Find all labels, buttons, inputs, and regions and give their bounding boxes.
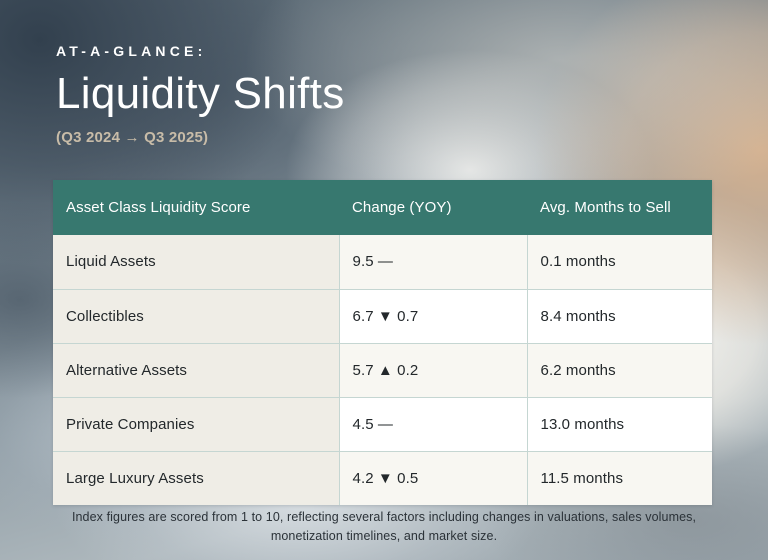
cell-asset-class: Liquid Assets xyxy=(53,235,339,289)
cell-change: 4.2 ▼ 0.5 xyxy=(339,451,527,505)
column-header-change: Change (YOY) xyxy=(339,180,527,235)
cell-asset-class: Collectibles xyxy=(53,289,339,343)
cell-asset-class: Private Companies xyxy=(53,397,339,451)
table-row: Liquid Assets 9.5 — 0.1 months xyxy=(53,235,712,289)
cell-change: 6.7 ▼ 0.7 xyxy=(339,289,527,343)
cell-months: 0.1 months xyxy=(527,235,712,289)
cell-months: 13.0 months xyxy=(527,397,712,451)
cell-months: 11.5 months xyxy=(527,451,712,505)
cell-change: 5.7 ▲ 0.2 xyxy=(339,343,527,397)
table-body: Liquid Assets 9.5 — 0.1 months Collectib… xyxy=(53,235,712,505)
header-block: AT-A-GLANCE: Liquidity Shifts (Q3 2024 →… xyxy=(56,44,676,145)
cell-months: 8.4 months xyxy=(527,289,712,343)
cell-change: 9.5 — xyxy=(339,235,527,289)
table-row: Large Luxury Assets 4.2 ▼ 0.5 11.5 month… xyxy=(53,451,712,505)
cell-asset-class: Large Luxury Assets xyxy=(53,451,339,505)
cell-asset-class: Alternative Assets xyxy=(53,343,339,397)
table-header: Asset Class Liquidity Score Change (YOY)… xyxy=(53,180,712,235)
table-row: Collectibles 6.7 ▼ 0.7 8.4 months xyxy=(53,289,712,343)
cell-months: 6.2 months xyxy=(527,343,712,397)
eyebrow-label: AT-A-GLANCE: xyxy=(56,44,676,58)
liquidity-table: Asset Class Liquidity Score Change (YOY)… xyxy=(53,180,712,505)
page-title: Liquidity Shifts xyxy=(56,72,676,116)
table-row: Alternative Assets 5.7 ▲ 0.2 6.2 months xyxy=(53,343,712,397)
column-header-months: Avg. Months to Sell xyxy=(527,180,712,235)
footnote-text: Index figures are scored from 1 to 10, r… xyxy=(54,508,714,547)
table-row: Private Companies 4.5 — 13.0 months xyxy=(53,397,712,451)
page-subtitle: (Q3 2024 → Q3 2025) xyxy=(56,130,676,145)
table-header-row: Asset Class Liquidity Score Change (YOY)… xyxy=(53,180,712,235)
cell-change: 4.5 — xyxy=(339,397,527,451)
column-header-asset-class: Asset Class Liquidity Score xyxy=(53,180,339,235)
